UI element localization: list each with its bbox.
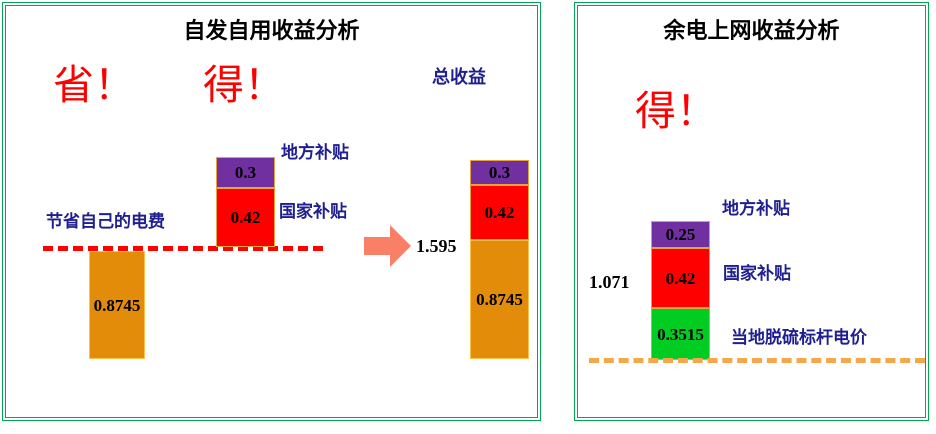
shout-save-label: 省！ [53,65,135,106]
bar-segment-local-subsidy-total: 0.3 [470,160,529,185]
panel-self-consumption: 自发自用收益分析 省！ 得！ 总收益 地方补贴 国家补贴 节省自己的电费 0.8… [2,2,541,421]
page-title-left: 自发自用收益分析 [3,13,540,45]
panel-grid-export: 余电上网收益分析 得！ 地方补贴 国家补贴 当地脱硫标杆电价 1.071 0.2… [574,2,929,421]
baseline-caption-left: 节省自己的电费 [46,213,165,230]
shout-gain-label: 得！ [203,65,285,106]
shout-gain-label-right: 得！ [635,91,717,132]
local-subsidy-annotation-left: 地方补贴 [281,144,349,161]
local-subsidy-annotation-right: 地方补贴 [722,200,790,217]
national-subsidy-annotation-left: 国家补贴 [279,203,347,220]
bar-segment-saving-total: 0.8745 [470,240,529,359]
flow-arrow-icon [364,223,412,276]
total-value-right: 1.071 [589,273,630,291]
bar-segment-local-subsidy-2: 0.3 [216,157,275,188]
bar-segment-local-subsidy-right: 0.25 [651,221,710,248]
national-subsidy-annotation-right: 国家补贴 [723,265,791,282]
bar-segment-benchmark-price-right: 0.3515 [651,308,710,360]
bar-segment-saving-1: 0.8745 [89,251,145,359]
bar-segment-national-subsidy-right: 0.42 [651,248,710,308]
baseline-dashed-orange [589,358,925,363]
total-revenue-caption: 总收益 [432,68,486,86]
baseline-dashed-red [43,246,323,251]
page-title-right: 余电上网收益分析 [575,13,928,45]
total-value-left: 1.595 [416,237,457,255]
bar-segment-national-subsidy-2: 0.42 [216,188,275,247]
benchmark-price-annotation-right: 当地脱硫标杆电价 [731,329,867,346]
bar-segment-national-subsidy-total: 0.42 [470,185,529,240]
